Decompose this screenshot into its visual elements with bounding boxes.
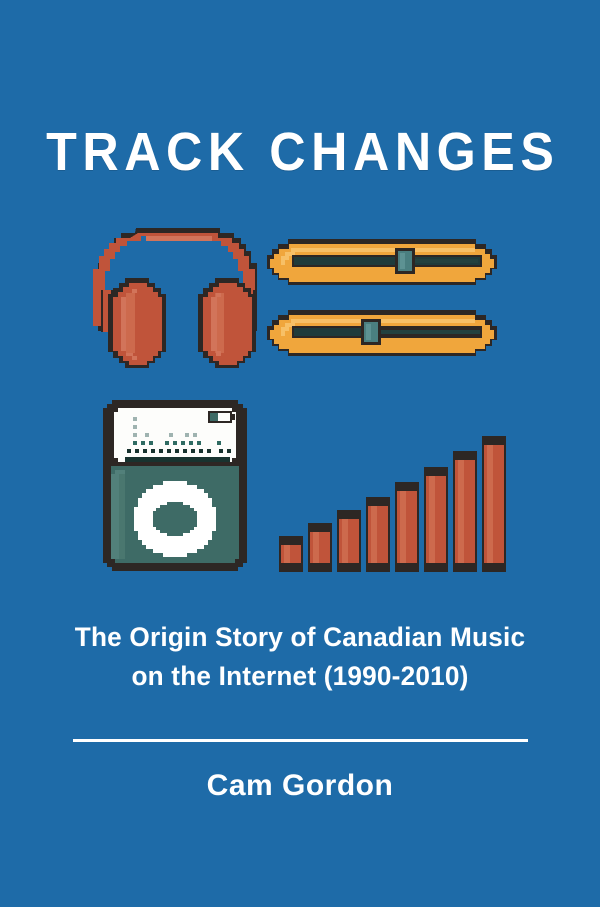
headphone-earcup-left bbox=[108, 278, 166, 368]
subtitle-line-2: on the Internet (1990-2010) bbox=[9, 657, 591, 696]
chart-bar bbox=[366, 497, 390, 572]
headphones-icon bbox=[93, 228, 257, 368]
battery-icon bbox=[208, 411, 235, 423]
chart-bar bbox=[482, 436, 506, 572]
chart-bar bbox=[453, 451, 477, 572]
chart-bar bbox=[308, 523, 332, 572]
mp3-screen-content bbox=[125, 411, 235, 462]
slider-top-handle[interactable] bbox=[395, 248, 415, 274]
subtitle-line-1: The Origin Story of Canadian Music bbox=[9, 618, 591, 657]
chart-bar bbox=[279, 536, 303, 572]
page-title: TRACK CHANGES bbox=[21, 125, 579, 179]
chart-bar bbox=[337, 510, 361, 572]
chart-bar bbox=[395, 482, 419, 572]
mp3-player-icon bbox=[103, 400, 247, 571]
book-cover: TRACK CHANGES bbox=[0, 0, 600, 907]
divider-rule bbox=[73, 739, 528, 742]
subtitle: The Origin Story of Canadian Music on th… bbox=[9, 618, 591, 696]
headphone-earcup-right bbox=[198, 278, 256, 368]
click-wheel[interactable] bbox=[134, 481, 216, 557]
author-name: Cam Gordon bbox=[0, 767, 600, 805]
slider-top[interactable] bbox=[267, 239, 497, 285]
chart-bar bbox=[424, 467, 448, 572]
bar-chart bbox=[279, 436, 506, 572]
slider-bottom[interactable] bbox=[267, 310, 497, 356]
slider-bottom-handle[interactable] bbox=[361, 319, 381, 345]
